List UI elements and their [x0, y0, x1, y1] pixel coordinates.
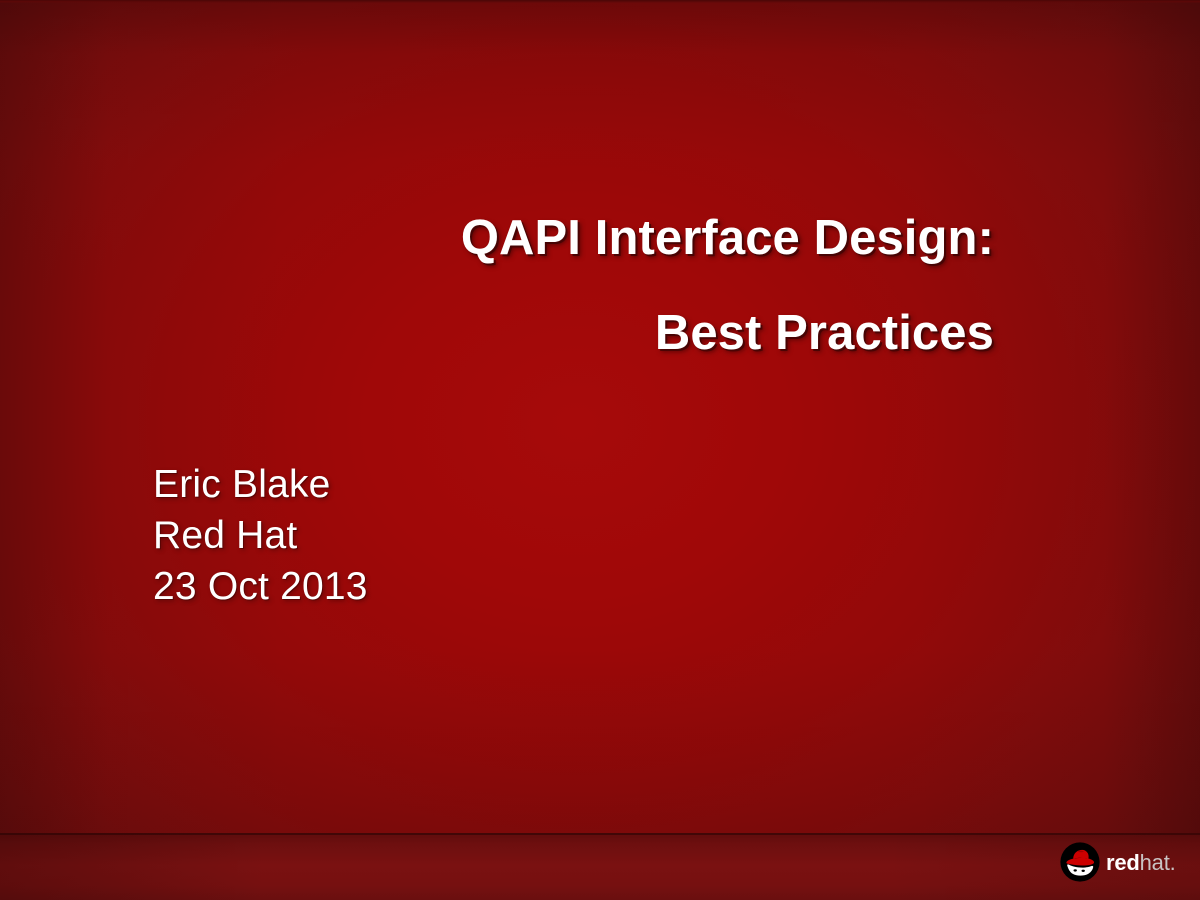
- author-name: Eric Blake: [153, 459, 368, 510]
- wordmark-hat: hat: [1140, 850, 1170, 875]
- slide-title-line-1: QAPI Interface Design:: [130, 214, 994, 263]
- slide-background-side-fade: [0, 0, 1200, 900]
- wordmark-dot: .: [1170, 850, 1176, 875]
- slide-top-rule: [0, 0, 1200, 3]
- slide-title-line-2: Best Practices: [130, 309, 994, 358]
- slide-title-block: QAPI Interface Design: Best Practices: [130, 214, 994, 358]
- redhat-wordmark: redhat.: [1106, 852, 1176, 874]
- wordmark-red: red: [1106, 850, 1140, 875]
- redhat-shadowman-icon: [1060, 842, 1100, 882]
- presentation-slide: QAPI Interface Design: Best Practices Er…: [0, 0, 1200, 900]
- redhat-logo: redhat.: [1060, 841, 1176, 883]
- presentation-date: 23 Oct 2013: [153, 561, 368, 612]
- slide-footer-band: [0, 833, 1200, 900]
- author-organization: Red Hat: [153, 510, 368, 561]
- slide-author-block: Eric Blake Red Hat 23 Oct 2013: [153, 459, 368, 612]
